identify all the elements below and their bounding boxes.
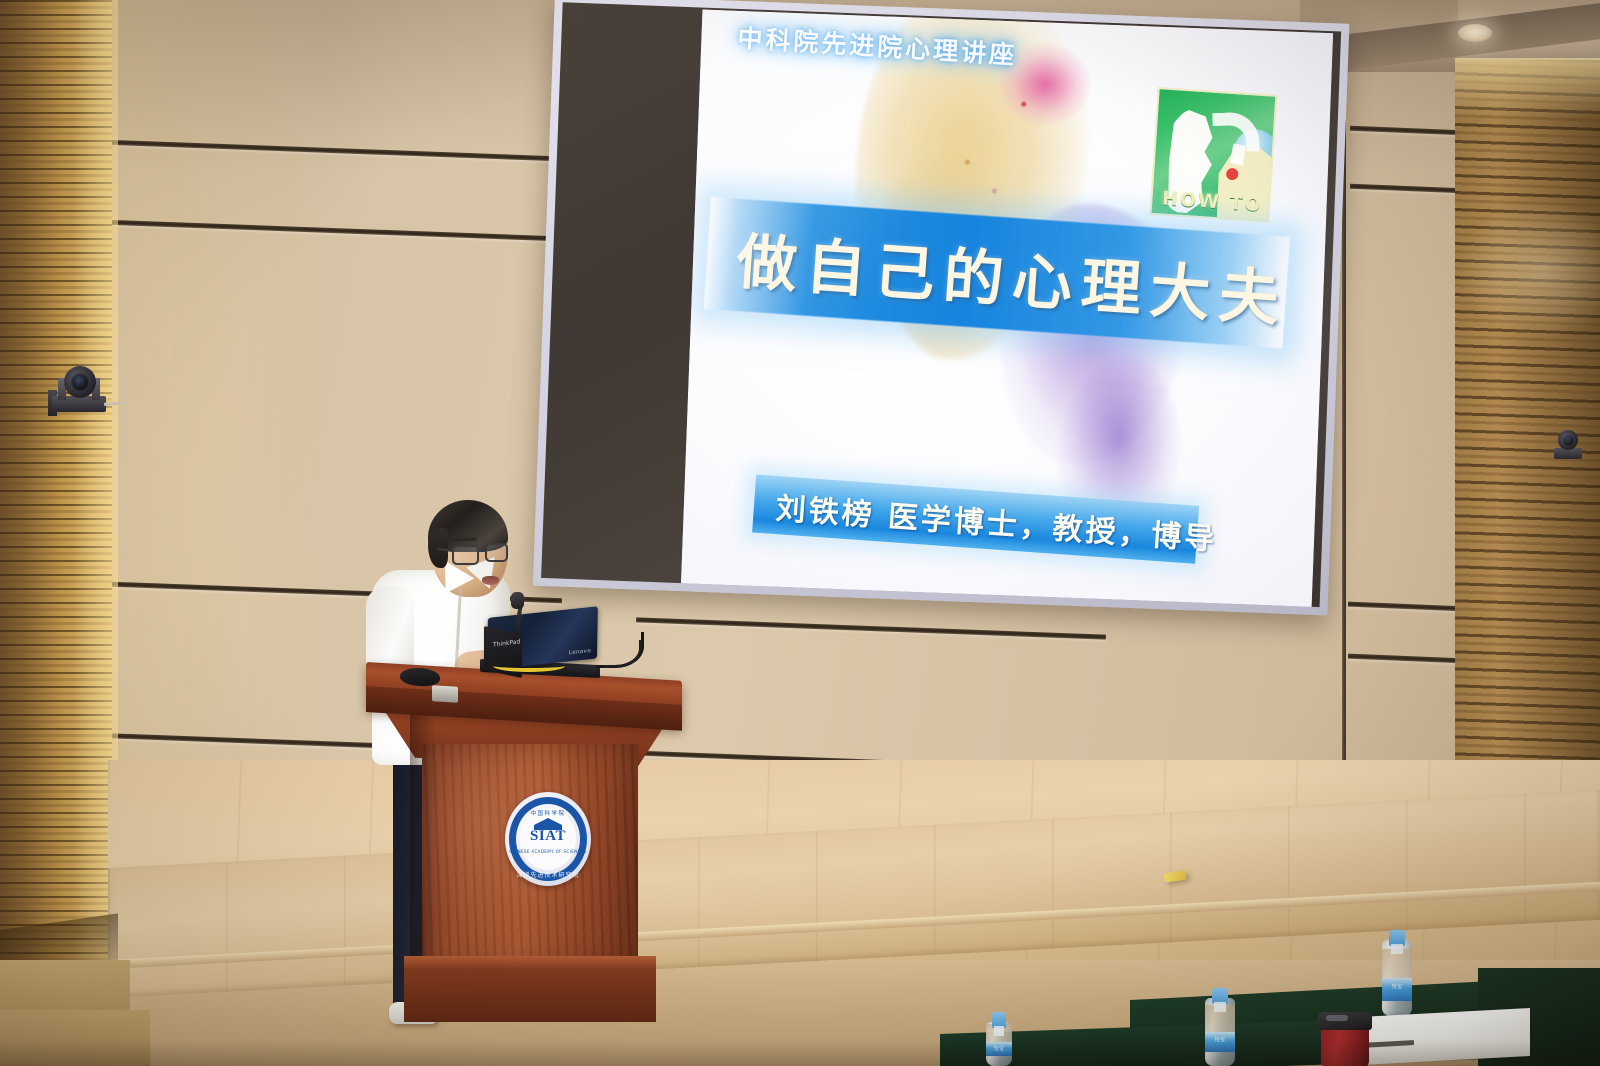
ptz-left-lens bbox=[71, 373, 89, 391]
podium-base bbox=[404, 960, 656, 1022]
podium-base-top bbox=[404, 956, 656, 968]
siat-emblem-english: CHINESE ACADEMY OF SCIENCES bbox=[505, 849, 591, 854]
siat-emblem: 中国科学院 SIAT CHINESE ACADEMY OF SCIENCES 深… bbox=[505, 792, 591, 886]
projection-screen: 中科院先进院心理讲座 HOW TO 做自己的心理大夫 刘铁榜 医学博士，教授，博… bbox=[532, 0, 1354, 624]
ptz-camera-right bbox=[1552, 428, 1586, 462]
right-wall-light-glow bbox=[1455, 58, 1600, 118]
bottle-3-neck bbox=[1391, 944, 1403, 954]
right-wall-highlight bbox=[1455, 200, 1600, 340]
podium-side-shadow bbox=[410, 690, 436, 990]
bottle-3-label-text: 怡宝 bbox=[1382, 983, 1412, 990]
question-mark-icon bbox=[1204, 108, 1260, 179]
glasses-bridge bbox=[478, 550, 486, 552]
microphone-head[interactable] bbox=[511, 592, 524, 609]
siat-emblem-acronym: SIAT bbox=[505, 828, 591, 845]
ptz-right-lens bbox=[1563, 435, 1574, 446]
bottle-1-neck bbox=[994, 1026, 1004, 1036]
projected-slide: 中科院先进院心理讲座 HOW TO 做自己的心理大夫 刘铁榜 医学博士，教授，博… bbox=[681, 10, 1333, 607]
question-mark-stem bbox=[1230, 143, 1246, 165]
speaker-mouth bbox=[482, 576, 499, 585]
laptop-lid-logo: Lenovo bbox=[569, 648, 591, 656]
yellow-cable bbox=[493, 660, 565, 672]
siat-emblem-chinese-arc: 中国科学院 bbox=[505, 809, 591, 817]
podium-control-panel[interactable] bbox=[432, 685, 458, 703]
bottom-shadow bbox=[0, 1040, 1600, 1066]
bottle-2-neck bbox=[1214, 1002, 1226, 1012]
how-to-logo: HOW TO bbox=[1149, 87, 1277, 223]
ceiling-downlight bbox=[1458, 24, 1492, 42]
water-bottle-3[interactable]: 怡宝 bbox=[1382, 930, 1412, 1016]
coffee-cup-lid bbox=[1318, 1012, 1372, 1030]
glasses-lens-right bbox=[485, 543, 508, 562]
ptz-camera-left bbox=[48, 360, 110, 416]
lecture-hall-scene: 中科院先进院心理讲座 HOW TO 做自己的心理大夫 刘铁榜 医学博士，教授，博… bbox=[0, 0, 1600, 1066]
coffee-cup-lid-highlight bbox=[1326, 1015, 1348, 1021]
glasses-lens-left bbox=[452, 545, 479, 565]
siat-emblem-bottom-arc: 深圳先进技术研究院 bbox=[505, 870, 591, 879]
left-wood-slat-wall bbox=[0, 0, 112, 1010]
